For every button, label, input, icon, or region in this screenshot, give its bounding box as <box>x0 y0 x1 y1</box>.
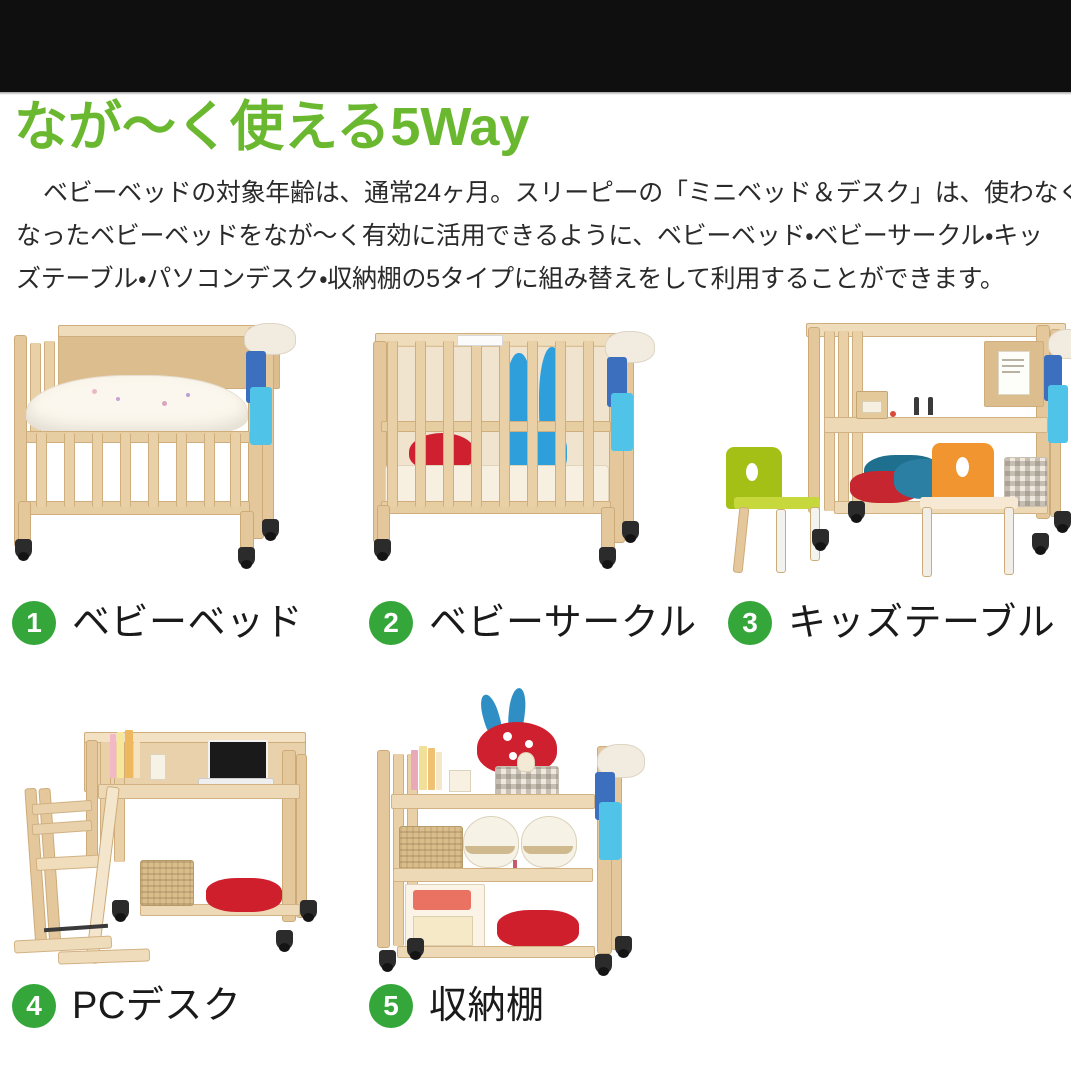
product-badge-2: 2 <box>369 601 413 645</box>
caster-icon <box>599 547 616 567</box>
caster-icon <box>374 539 391 559</box>
product-card-2[interactable]: 2 ベビーサークル <box>357 305 714 688</box>
caster-icon <box>300 900 317 920</box>
product-caption-4: 4 PCデスク <box>12 984 241 1028</box>
description-line-2: なったベビーベッドをなが〜く有効に活用できるように、ベビーベッド・ベビーサークル… <box>16 215 1071 258</box>
product-feature-page: なが〜く使える5Way ベビーベッドの対象年齢は、通常24ヶ月。スリーピーの「ミ… <box>0 0 1071 1071</box>
product-photo-baby-bed <box>0 305 357 595</box>
caster-icon <box>622 521 639 541</box>
product-label-5: 収納棚 <box>429 984 545 1028</box>
top-black-bar <box>0 0 1071 92</box>
product-label-2: ベビーサークル <box>429 601 697 645</box>
page-title: なが〜く使える5Way <box>14 96 529 158</box>
caster-icon <box>112 900 129 920</box>
product-photo-playpen <box>357 305 714 595</box>
product-row-1: 1 ベビーベッド <box>0 305 1071 688</box>
top-bar-divider <box>0 92 1071 95</box>
caster-icon <box>615 936 632 956</box>
description-line-3: ズテーブル・パソコンデスク・収納棚の5タイプに組み替えをして利用することができま… <box>16 258 1071 301</box>
product-card-5[interactable]: 5 収納棚 <box>357 688 714 1071</box>
caster-icon <box>238 547 255 567</box>
caster-icon <box>379 950 396 970</box>
product-label-3: キッズテーブル <box>788 601 1055 645</box>
caster-icon <box>812 529 829 549</box>
caster-icon <box>595 954 612 974</box>
product-caption-1: 1 ベビーベッド <box>12 601 303 645</box>
description-paragraph: ベビーベッドの対象年齢は、通常24ヶ月。スリーピーの「ミニベッド＆デスク」は、使… <box>16 172 1071 301</box>
product-photo-pc-desk <box>0 688 357 978</box>
product-photo-kids-table <box>714 305 1071 595</box>
product-badge-3: 3 <box>728 601 772 645</box>
product-caption-3: 3 キッズテーブル <box>728 601 1055 645</box>
product-caption-5: 5 収納棚 <box>369 984 545 1028</box>
product-row-2: 4 PCデスク <box>0 688 1071 1071</box>
caster-icon <box>407 938 424 958</box>
caster-icon <box>276 930 293 950</box>
caster-icon <box>262 519 279 539</box>
product-label-4: PCデスク <box>72 984 241 1028</box>
product-badge-1: 1 <box>12 601 56 645</box>
caster-icon <box>848 501 865 521</box>
product-badge-4: 4 <box>12 984 56 1028</box>
caster-icon <box>1032 533 1049 553</box>
product-card-4[interactable]: 4 PCデスク <box>0 688 357 1071</box>
product-card-empty <box>714 688 1071 1071</box>
product-badge-5: 5 <box>369 984 413 1028</box>
product-grid: 1 ベビーベッド <box>0 305 1071 1071</box>
description-line-1: ベビーベッドの対象年齢は、通常24ヶ月。スリーピーの「ミニベッド＆デスク」は、使… <box>16 172 1071 215</box>
product-photo-storage-shelf <box>357 688 714 978</box>
caster-icon <box>1054 511 1071 531</box>
product-card-3[interactable]: 3 キッズテーブル <box>714 305 1071 688</box>
product-label-1: ベビーベッド <box>72 601 303 645</box>
product-caption-2: 2 ベビーサークル <box>369 601 697 645</box>
product-card-1[interactable]: 1 ベビーベッド <box>0 305 357 688</box>
caster-icon <box>15 539 32 559</box>
